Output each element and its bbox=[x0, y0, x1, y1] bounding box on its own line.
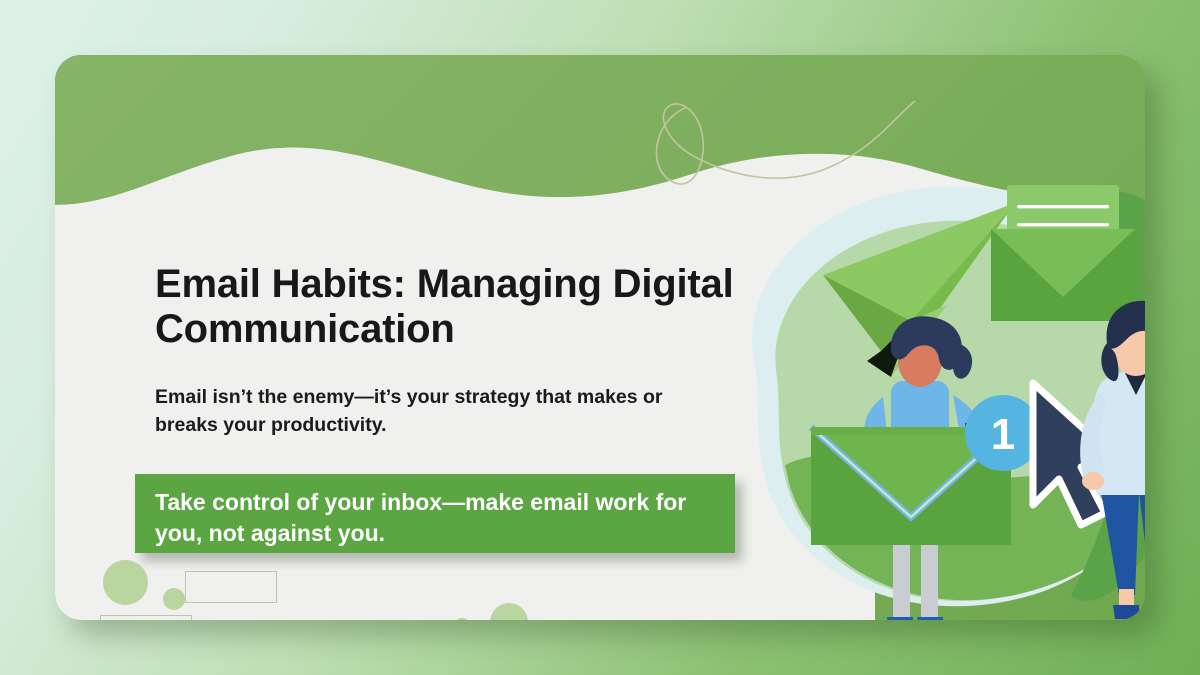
decor-rect-top bbox=[185, 571, 277, 603]
callout-banner-text: Take control of your inbox—make email wo… bbox=[155, 487, 715, 548]
page-title: Email Habits: Managing Digital Communica… bbox=[155, 262, 805, 352]
email-illustration: 1 bbox=[715, 165, 1145, 620]
slide-canvas: 1 bbox=[0, 0, 1200, 675]
callout-banner: Take control of your inbox—make email wo… bbox=[135, 474, 735, 553]
content-card: 1 bbox=[55, 55, 1145, 620]
decor-circle-small bbox=[163, 588, 185, 610]
decor-rect-bottom bbox=[100, 615, 192, 620]
page-subtitle: Email isn’t the enemy—it’s your strategy… bbox=[155, 383, 730, 440]
badge-count-text: 1 bbox=[991, 410, 1015, 459]
decor-circle-large bbox=[103, 560, 148, 605]
open-envelope-icon bbox=[991, 185, 1135, 321]
